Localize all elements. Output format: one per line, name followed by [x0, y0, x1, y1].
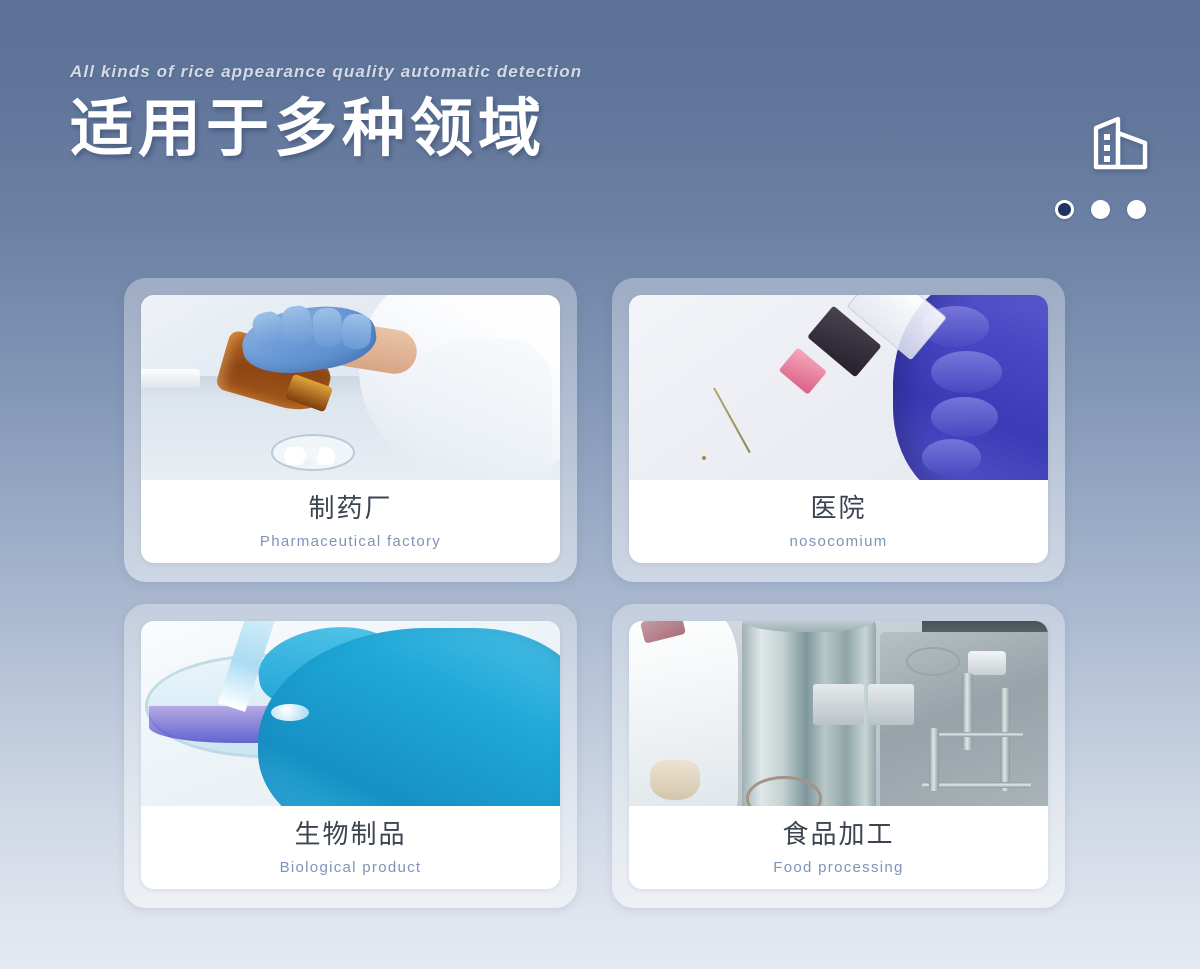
card-image-biological-product	[141, 621, 560, 806]
card-frame[interactable]: 制药厂 Pharmaceutical factory	[124, 278, 577, 582]
page-title: 适用于多种领域	[70, 92, 582, 166]
card-subtitle: nosocomium	[629, 533, 1048, 550]
pagination-dot-1[interactable]	[1055, 200, 1074, 219]
header-block: All kinds of rice appearance quality aut…	[70, 62, 582, 166]
card-pharmaceutical-factory[interactable]: 制药厂 Pharmaceutical factory	[141, 295, 560, 563]
card-subtitle: Biological product	[141, 859, 560, 876]
card-title: 医院	[629, 491, 1048, 526]
card-title: 食品加工	[629, 817, 1048, 852]
card-image-nosocomium	[629, 295, 1048, 480]
card-frame[interactable]: 生物制品 Biological product	[124, 604, 577, 908]
card-caption: 制药厂 Pharmaceutical factory	[141, 480, 560, 563]
pagination-dot-3[interactable]	[1127, 200, 1146, 219]
card-food-processing[interactable]: 食品加工 Food processing	[629, 621, 1048, 889]
carousel-pagination[interactable]	[1055, 200, 1146, 219]
pagination-dot-2[interactable]	[1091, 200, 1110, 219]
card-subtitle: Food processing	[629, 859, 1048, 876]
application-card-grid: 制药厂 Pharmaceutical factory 医院	[124, 278, 1076, 908]
card-title: 生物制品	[141, 817, 560, 852]
card-image-pharmaceutical-factory	[141, 295, 560, 480]
card-biological-product[interactable]: 生物制品 Biological product	[141, 621, 560, 889]
card-subtitle: Pharmaceutical factory	[141, 533, 560, 550]
eyebrow-text: All kinds of rice appearance quality aut…	[70, 62, 582, 82]
card-caption: 食品加工 Food processing	[629, 806, 1048, 889]
card-frame[interactable]: 医院 nosocomium	[612, 278, 1065, 582]
card-caption: 生物制品 Biological product	[141, 806, 560, 889]
card-image-food-processing	[629, 621, 1048, 806]
card-title: 制药厂	[141, 491, 560, 526]
card-caption: 医院 nosocomium	[629, 480, 1048, 563]
building-icon	[1088, 112, 1154, 174]
card-frame[interactable]: 食品加工 Food processing	[612, 604, 1065, 908]
card-nosocomium[interactable]: 医院 nosocomium	[629, 295, 1048, 563]
